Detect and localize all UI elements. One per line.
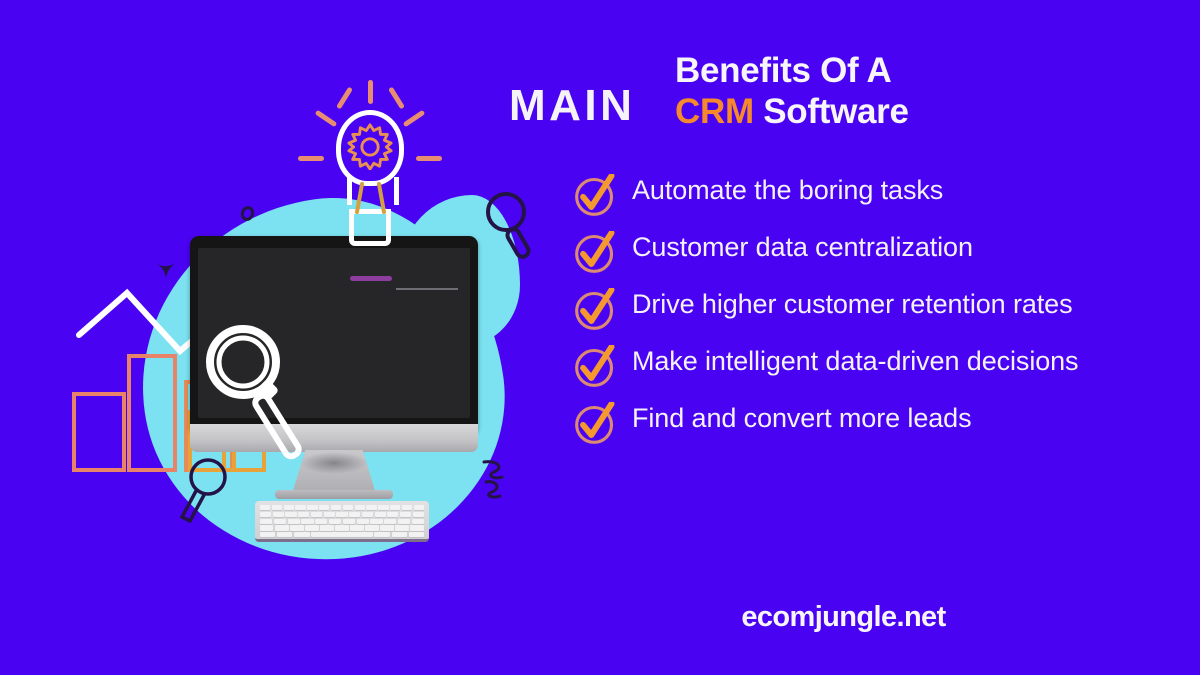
keyboard-key xyxy=(260,505,270,510)
headline-line-2-rest: Software xyxy=(754,92,909,131)
magnifying-glass-icon xyxy=(200,320,310,465)
keyboard-key xyxy=(413,512,424,517)
monitor-stand-shadow xyxy=(300,452,368,474)
keyboard-key xyxy=(294,532,309,537)
keyboard-key xyxy=(343,519,355,524)
list-item: Find and convert more leads xyxy=(573,400,1193,446)
list-item-label: Make intelligent data-driven decisions xyxy=(632,343,1078,379)
gear-icon xyxy=(346,122,394,170)
illustration-group xyxy=(0,0,560,675)
keyboard-key xyxy=(260,525,273,530)
keyboard-key xyxy=(295,505,305,510)
keyboard-key xyxy=(273,512,284,517)
keyboard-key xyxy=(362,512,373,517)
lightbulb-with-gear-icon xyxy=(318,110,422,255)
keyboard-key xyxy=(274,519,286,524)
keyboard-key xyxy=(412,519,424,524)
lightbulb-ray xyxy=(388,86,405,109)
headline-main-word: MAIN xyxy=(509,84,635,128)
keyboard-key xyxy=(355,505,365,510)
content-column: MAIN Benefits Of A CRM Software Automate… xyxy=(505,0,1200,675)
list-item-label: Drive higher customer retention rates xyxy=(632,286,1073,322)
keyboard-row xyxy=(260,512,424,517)
page-title: MAIN Benefits Of A CRM Software xyxy=(505,44,1195,144)
lightbulb-ray xyxy=(315,110,338,128)
keyboard-key xyxy=(390,505,400,510)
headline-accent-crm: CRM xyxy=(675,92,754,131)
lightbulb-filament-lines xyxy=(348,182,394,216)
keyboard-key xyxy=(365,525,378,530)
keyboard-key xyxy=(380,525,393,530)
headline-line-1: Benefits Of A xyxy=(675,50,909,91)
keyboard-key xyxy=(414,505,424,510)
keyboard-key xyxy=(370,519,382,524)
keyboard-key xyxy=(374,532,389,537)
keyboard-key xyxy=(260,512,271,517)
lightbulb-ray xyxy=(403,110,426,128)
screen-line xyxy=(396,288,458,290)
keyboard-key xyxy=(395,525,408,530)
list-item-label: Find and convert more leads xyxy=(632,400,971,436)
keyboard-spacebar xyxy=(311,532,373,537)
keyboard-key xyxy=(275,525,288,530)
headline-line-2: CRM Software xyxy=(675,91,909,132)
check-circle-icon xyxy=(573,402,617,446)
keyboard-key xyxy=(357,519,369,524)
list-item: Customer data centralization xyxy=(573,229,1193,275)
headline-lines: Benefits Of A CRM Software xyxy=(675,50,909,133)
keyboard-key xyxy=(410,525,423,530)
check-circle-icon xyxy=(573,231,617,275)
sparkle-x-decoration xyxy=(155,258,177,280)
keyboard-key xyxy=(298,512,309,517)
keyboard-row xyxy=(260,505,424,510)
lightbulb-ray xyxy=(298,156,324,161)
keyboard-row xyxy=(260,525,424,530)
keyboard-key xyxy=(329,519,341,524)
keyboard xyxy=(255,501,429,542)
keyboard-key xyxy=(315,519,327,524)
list-item: Make intelligent data-driven decisions xyxy=(573,343,1193,389)
keyboard-key xyxy=(331,505,341,510)
keyboard-key xyxy=(301,519,313,524)
keyboard-key xyxy=(285,512,296,517)
keyboard-key xyxy=(392,532,407,537)
keyboard-key xyxy=(343,505,353,510)
keyboard-key xyxy=(350,525,363,530)
bar-chart-bar xyxy=(72,392,126,472)
keyboard-key xyxy=(260,532,275,537)
keyboard-key xyxy=(320,525,333,530)
keyboard-key xyxy=(336,512,347,517)
keyboard-row xyxy=(260,532,424,537)
list-item-label: Automate the boring tasks xyxy=(632,172,943,208)
lightbulb-ray xyxy=(416,156,442,161)
site-logo-text: ecomjungle.net xyxy=(741,601,945,633)
benefits-list: Automate the boring tasks Customer data … xyxy=(573,172,1193,457)
keyboard-key xyxy=(335,525,348,530)
list-item: Drive higher customer retention rates xyxy=(573,286,1193,332)
list-item-label: Customer data centralization xyxy=(632,229,973,265)
check-circle-icon xyxy=(573,345,617,389)
keyboard-key xyxy=(409,532,424,537)
keyboard-key xyxy=(398,519,410,524)
keyboard-key xyxy=(324,512,335,517)
list-item: Automate the boring tasks xyxy=(573,172,1193,218)
site-logo: ecomjungle.net xyxy=(505,601,1200,634)
keyboard-key xyxy=(305,525,318,530)
keyboard-key xyxy=(307,505,317,510)
keyboard-key xyxy=(311,512,322,517)
lightbulb-ray xyxy=(368,80,373,104)
keyboard-key xyxy=(290,525,303,530)
lightbulb-ray xyxy=(336,86,353,109)
keyboard-row xyxy=(260,519,424,524)
keyboard-key xyxy=(277,532,292,537)
keyboard-key xyxy=(284,505,294,510)
keyboard-key xyxy=(366,505,376,510)
screen-highlight-bar xyxy=(350,276,392,281)
keyboard-key xyxy=(375,512,386,517)
check-circle-icon xyxy=(573,288,617,332)
keyboard-key xyxy=(402,505,412,510)
keyboard-key xyxy=(387,512,398,517)
keyboard-key xyxy=(400,512,411,517)
keyboard-key xyxy=(378,505,388,510)
keyboard-key xyxy=(349,512,360,517)
keyboard-key xyxy=(319,505,329,510)
infographic-canvas: MAIN Benefits Of A CRM Software Automate… xyxy=(0,0,1200,675)
monitor-stand-foot xyxy=(275,490,393,499)
magnifying-glass-icon xyxy=(176,455,234,525)
keyboard-key xyxy=(288,519,300,524)
keyboard-key xyxy=(272,505,282,510)
keyboard-key xyxy=(260,519,272,524)
keyboard-key xyxy=(384,519,396,524)
check-circle-icon xyxy=(573,174,617,218)
